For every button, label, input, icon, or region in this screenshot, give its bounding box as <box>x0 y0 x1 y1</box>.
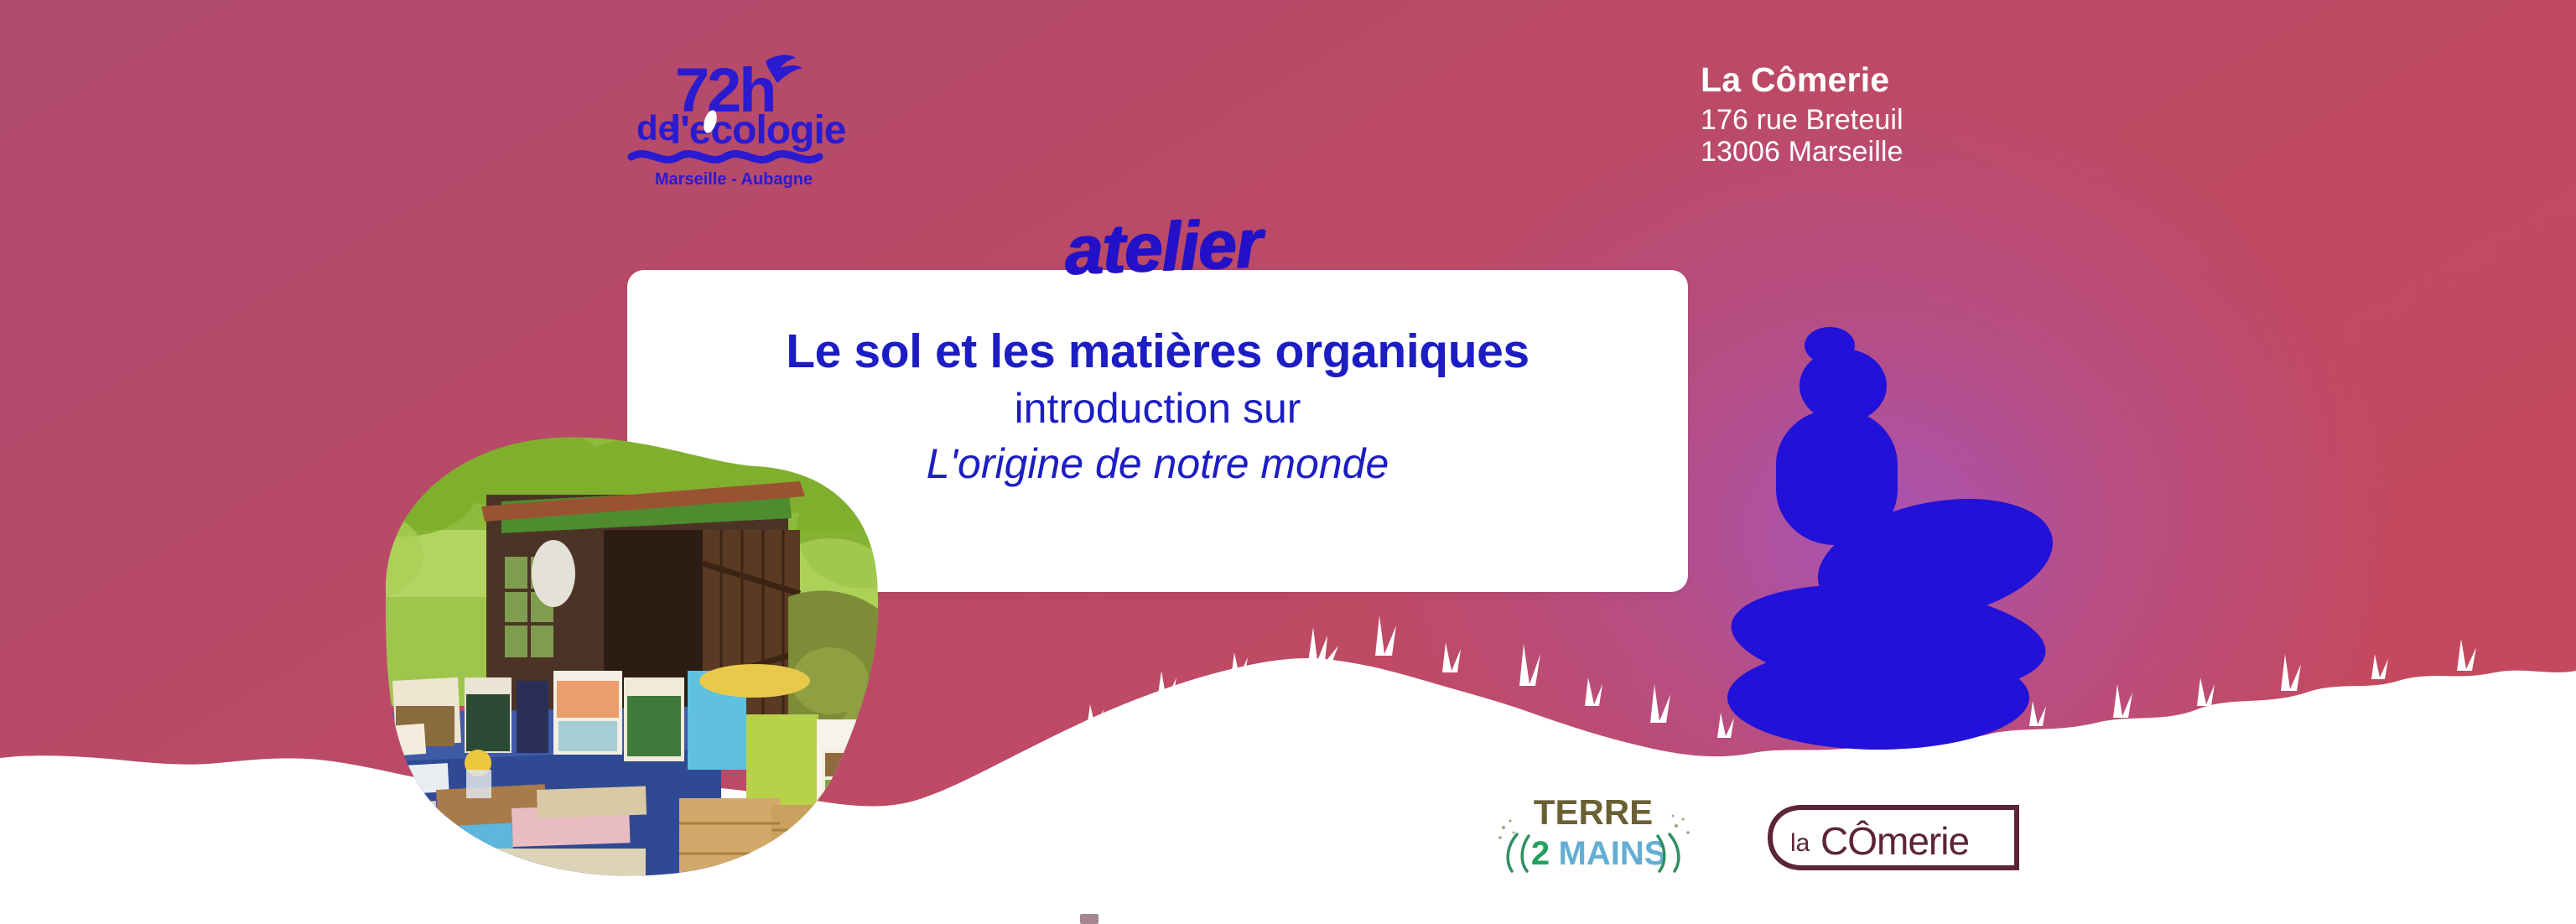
event-logo: 72h de l'ecologie Marseille - Aubagne <box>616 46 851 189</box>
venue-name: La Cômerie <box>1701 60 1903 100</box>
venue-block: La Cômerie 176 rue Breteuil 13006 Marsei… <box>1701 60 1903 169</box>
comerie-word-main: CÔmerie <box>1820 819 1969 863</box>
event-subtitle: introduction sur <box>627 383 1688 433</box>
partner-logo-comerie: la CÔmerie <box>1765 801 2025 876</box>
event-logo-subtitle: Marseille - Aubagne <box>655 170 813 189</box>
cairn-decoration <box>1711 319 2080 755</box>
poster-canvas: 72h de l'ecologie Marseille - Aubagne La… <box>0 0 2576 924</box>
event-logo-svg: 72h de l'ecologie Marseille - Aubagne <box>616 46 851 189</box>
terre2mains-word-bottom: MAINS <box>1559 835 1667 872</box>
comerie-svg: la CÔmerie <box>1765 801 2025 876</box>
comerie-word-small: la <box>1790 829 1810 857</box>
event-photo-svg <box>285 429 906 882</box>
cairn-svg <box>1711 319 2080 755</box>
event-title: Le sol et les matières organiques <box>627 327 1688 377</box>
terre2mains-word-number: 2 <box>1531 835 1550 872</box>
cairn-stone-6 <box>1727 646 2029 750</box>
atelier-badge: atelier <box>1063 205 1263 291</box>
event-photo <box>285 429 906 882</box>
terre2mains-word-top: TERRE <box>1534 792 1653 832</box>
terre2mains-svg: TERRE 2 MAINS <box>1488 784 1698 876</box>
venue-street: 176 rue Breteuil <box>1701 104 1903 137</box>
venue-city: 13006 Marseille <box>1701 136 1903 169</box>
event-logo-ecologie: l'ecologie <box>670 108 846 153</box>
partner-logo-terre2mains: TERRE 2 MAINS <box>1488 784 1698 876</box>
cropped-bottom-mark <box>1080 914 1098 924</box>
wave-icon <box>631 154 819 160</box>
